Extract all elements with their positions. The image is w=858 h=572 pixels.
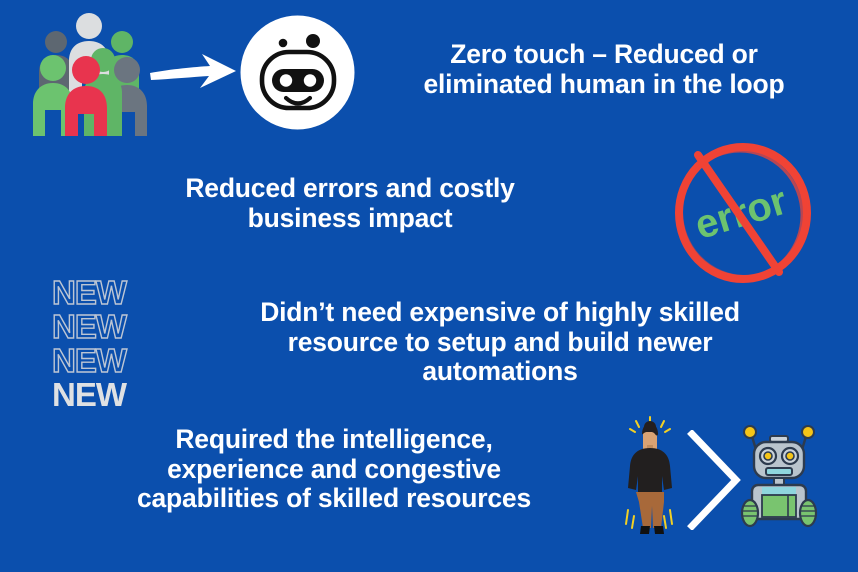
benefit-text-reduced-errors: Reduced errors and costly business impac… (118, 174, 582, 233)
benefit-text-required: Required the intelligence, experience an… (74, 425, 594, 514)
chevron-right-icon (686, 430, 744, 530)
no-error-icon: error (663, 142, 823, 284)
new-word-outline-1: NEW (52, 277, 170, 309)
human-figure-icon (614, 414, 686, 540)
people-group-icon (30, 8, 152, 136)
arrow-right-icon (148, 42, 240, 100)
new-word-stack: NEW NEW NEW NEW (52, 277, 170, 411)
robot-face-icon (239, 14, 356, 131)
benefit-text-zero-touch: Zero touch – Reduced or eliminated human… (356, 40, 852, 99)
slide-canvas: Zero touch – Reduced or eliminated human… (0, 0, 858, 572)
new-word-outline-3: NEW (52, 345, 170, 377)
new-word-outline-2: NEW (52, 311, 170, 343)
new-word-solid: NEW (52, 379, 170, 411)
benefit-text-didnt-need: Didn’t need expensive of highly skilled … (190, 298, 810, 387)
robot-cart-icon (740, 423, 818, 535)
